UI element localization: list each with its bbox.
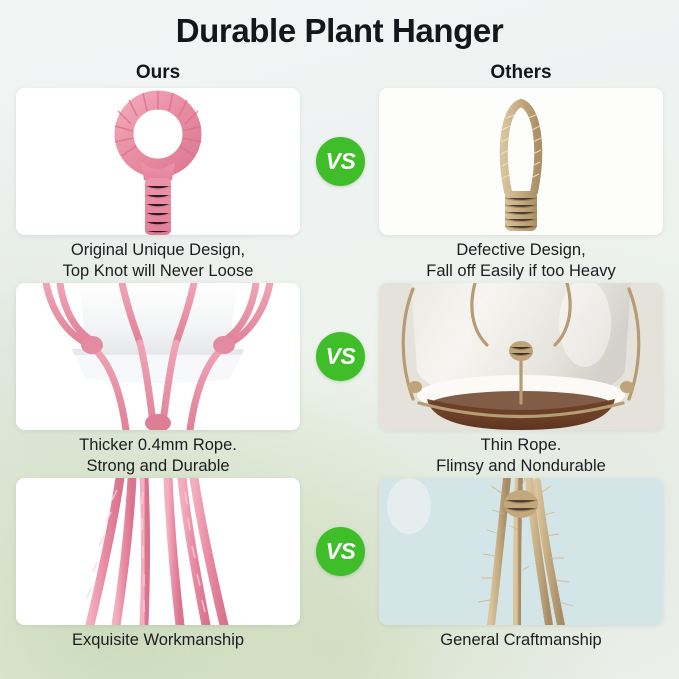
pink-twisted-rope-strands-image: [16, 478, 300, 625]
ours-caption-2: Thicker 0.4mm Rope. Strong and Durable: [16, 435, 300, 477]
page-title: Durable Plant Hanger: [0, 12, 679, 50]
vs-badge-row-2: VS: [316, 332, 365, 381]
vs-badge-label: VS: [326, 345, 356, 368]
vs-badge-label: VS: [326, 150, 356, 173]
frayed-jute-rope-strands-image: [379, 478, 663, 625]
pink-macrame-ring-knot-image: [16, 88, 300, 235]
ours-caption-3: Exquisite Workmanship: [16, 630, 300, 651]
ours-image-card-2: [16, 283, 300, 430]
column-headers: Ours Others: [0, 62, 679, 86]
vs-badge-row-3: VS: [316, 527, 365, 576]
others-caption-1: Defective Design, Fall off Easily if too…: [379, 240, 663, 282]
column-header-ours: Ours: [16, 62, 300, 84]
comparison-infographic: Durable Plant Hanger Ours Others: [0, 0, 679, 679]
vs-badge-row-1: VS: [316, 137, 365, 186]
others-caption-2: Thin Rope. Flimsy and Nondurable: [379, 435, 663, 477]
column-header-others: Others: [379, 62, 663, 84]
vs-badge-label: VS: [326, 540, 356, 563]
ours-image-card-1: [16, 88, 300, 235]
thin-jute-rope-ceramic-pot-image: [379, 283, 663, 430]
others-caption-3: General Craftmanship: [379, 630, 663, 651]
others-image-card-2: [379, 283, 663, 430]
others-image-card-3: [379, 478, 663, 625]
others-image-card-1: [379, 88, 663, 235]
ours-caption-1: Original Unique Design, Top Knot will Ne…: [16, 240, 300, 282]
pink-rope-net-white-pot-image: [16, 283, 300, 430]
jute-rope-loop-knot-image: [379, 88, 663, 235]
ours-image-card-3: [16, 478, 300, 625]
